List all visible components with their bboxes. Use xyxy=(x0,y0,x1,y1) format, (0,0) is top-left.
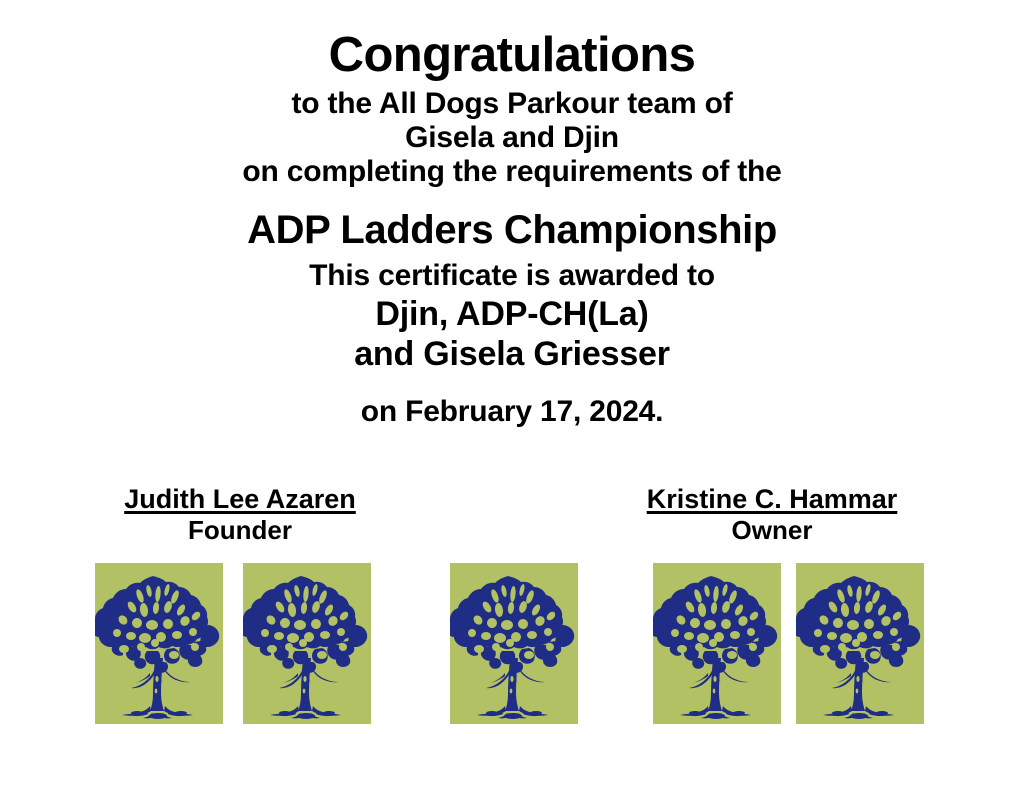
certificate-page: Congratulations to the All Dogs Parkour … xyxy=(0,0,1024,791)
tree-logo xyxy=(653,563,781,724)
team-names-line: Gisela and Djin xyxy=(0,121,1024,155)
signature-name: Kristine C. Hammar xyxy=(562,484,982,515)
signature-block-founder: Judith Lee Azaren Founder xyxy=(30,484,450,546)
signature-role: Owner xyxy=(562,515,982,546)
tree-logo xyxy=(95,563,223,724)
certificate-title: Congratulations xyxy=(0,30,1024,81)
tree-logo xyxy=(450,563,578,724)
signature-role: Founder xyxy=(30,515,450,546)
tree-logo xyxy=(243,563,371,724)
signature-row: Judith Lee Azaren Founder Kristine C. Ha… xyxy=(0,484,1024,548)
team-intro-line: to the All Dogs Parkour team of xyxy=(0,87,1024,121)
signature-block-owner: Kristine C. Hammar Owner xyxy=(562,484,982,546)
tree-logo xyxy=(796,563,924,724)
requirements-line: on completing the requirements of the xyxy=(0,155,1024,189)
recipient-handler-name: and Gisela Griesser xyxy=(0,335,1024,373)
award-date: on February 17, 2024. xyxy=(0,395,1024,429)
signature-name: Judith Lee Azaren xyxy=(30,484,450,515)
awarded-to-label: This certificate is awarded to xyxy=(0,259,1024,293)
certificate-text-block: Congratulations to the All Dogs Parkour … xyxy=(0,30,1024,428)
award-title: ADP Ladders Championship xyxy=(0,208,1024,253)
recipient-dog-name: Djin, ADP-CH(La) xyxy=(0,295,1024,333)
